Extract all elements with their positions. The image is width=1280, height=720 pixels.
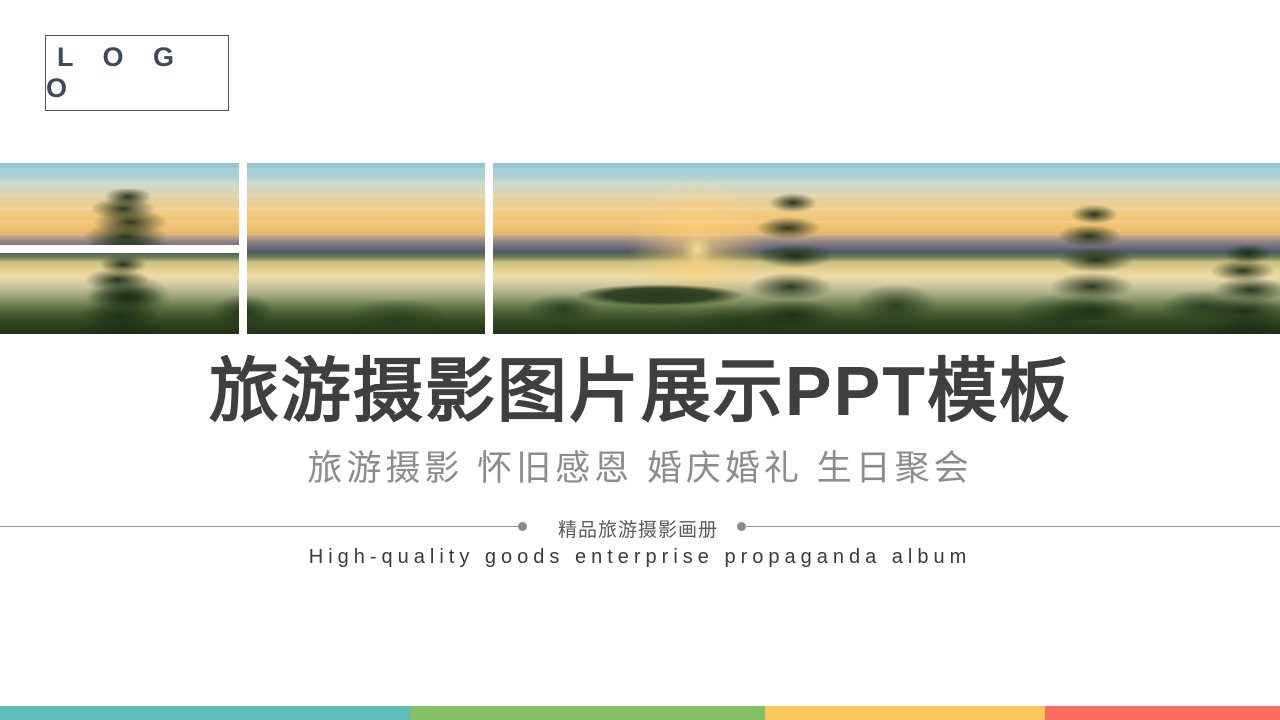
bottom-color-bar [0,706,1280,720]
island-silhouette-icon [560,281,760,307]
divider-caption-cn: 精品旅游摄影画册 [533,515,743,542]
page-title: 旅游摄影图片展示PPT模板 [0,354,1280,430]
panel-center [247,163,485,334]
logo-text: L O G O [46,42,228,104]
photo-collage [0,163,1280,334]
panel-top-left [0,163,239,245]
divider-line-left [0,526,519,527]
logo-box: L O G O [45,35,229,111]
color-segment-green [410,706,765,720]
divider-line-right [744,526,1280,527]
divider: 精品旅游摄影画册 [0,512,1280,542]
page-subtitle: 旅游摄影 怀旧感恩 婚庆婚礼 生日聚会 [0,440,1280,491]
color-segment-teal [0,706,410,720]
divider-caption-en: High-quality goods enterprise propaganda… [0,546,1280,569]
panel-bottom-left [0,253,239,334]
color-segment-yellow [765,706,1045,720]
color-segment-red [1045,706,1280,720]
panel-right [493,163,1280,334]
divider-dot-left [518,522,527,531]
